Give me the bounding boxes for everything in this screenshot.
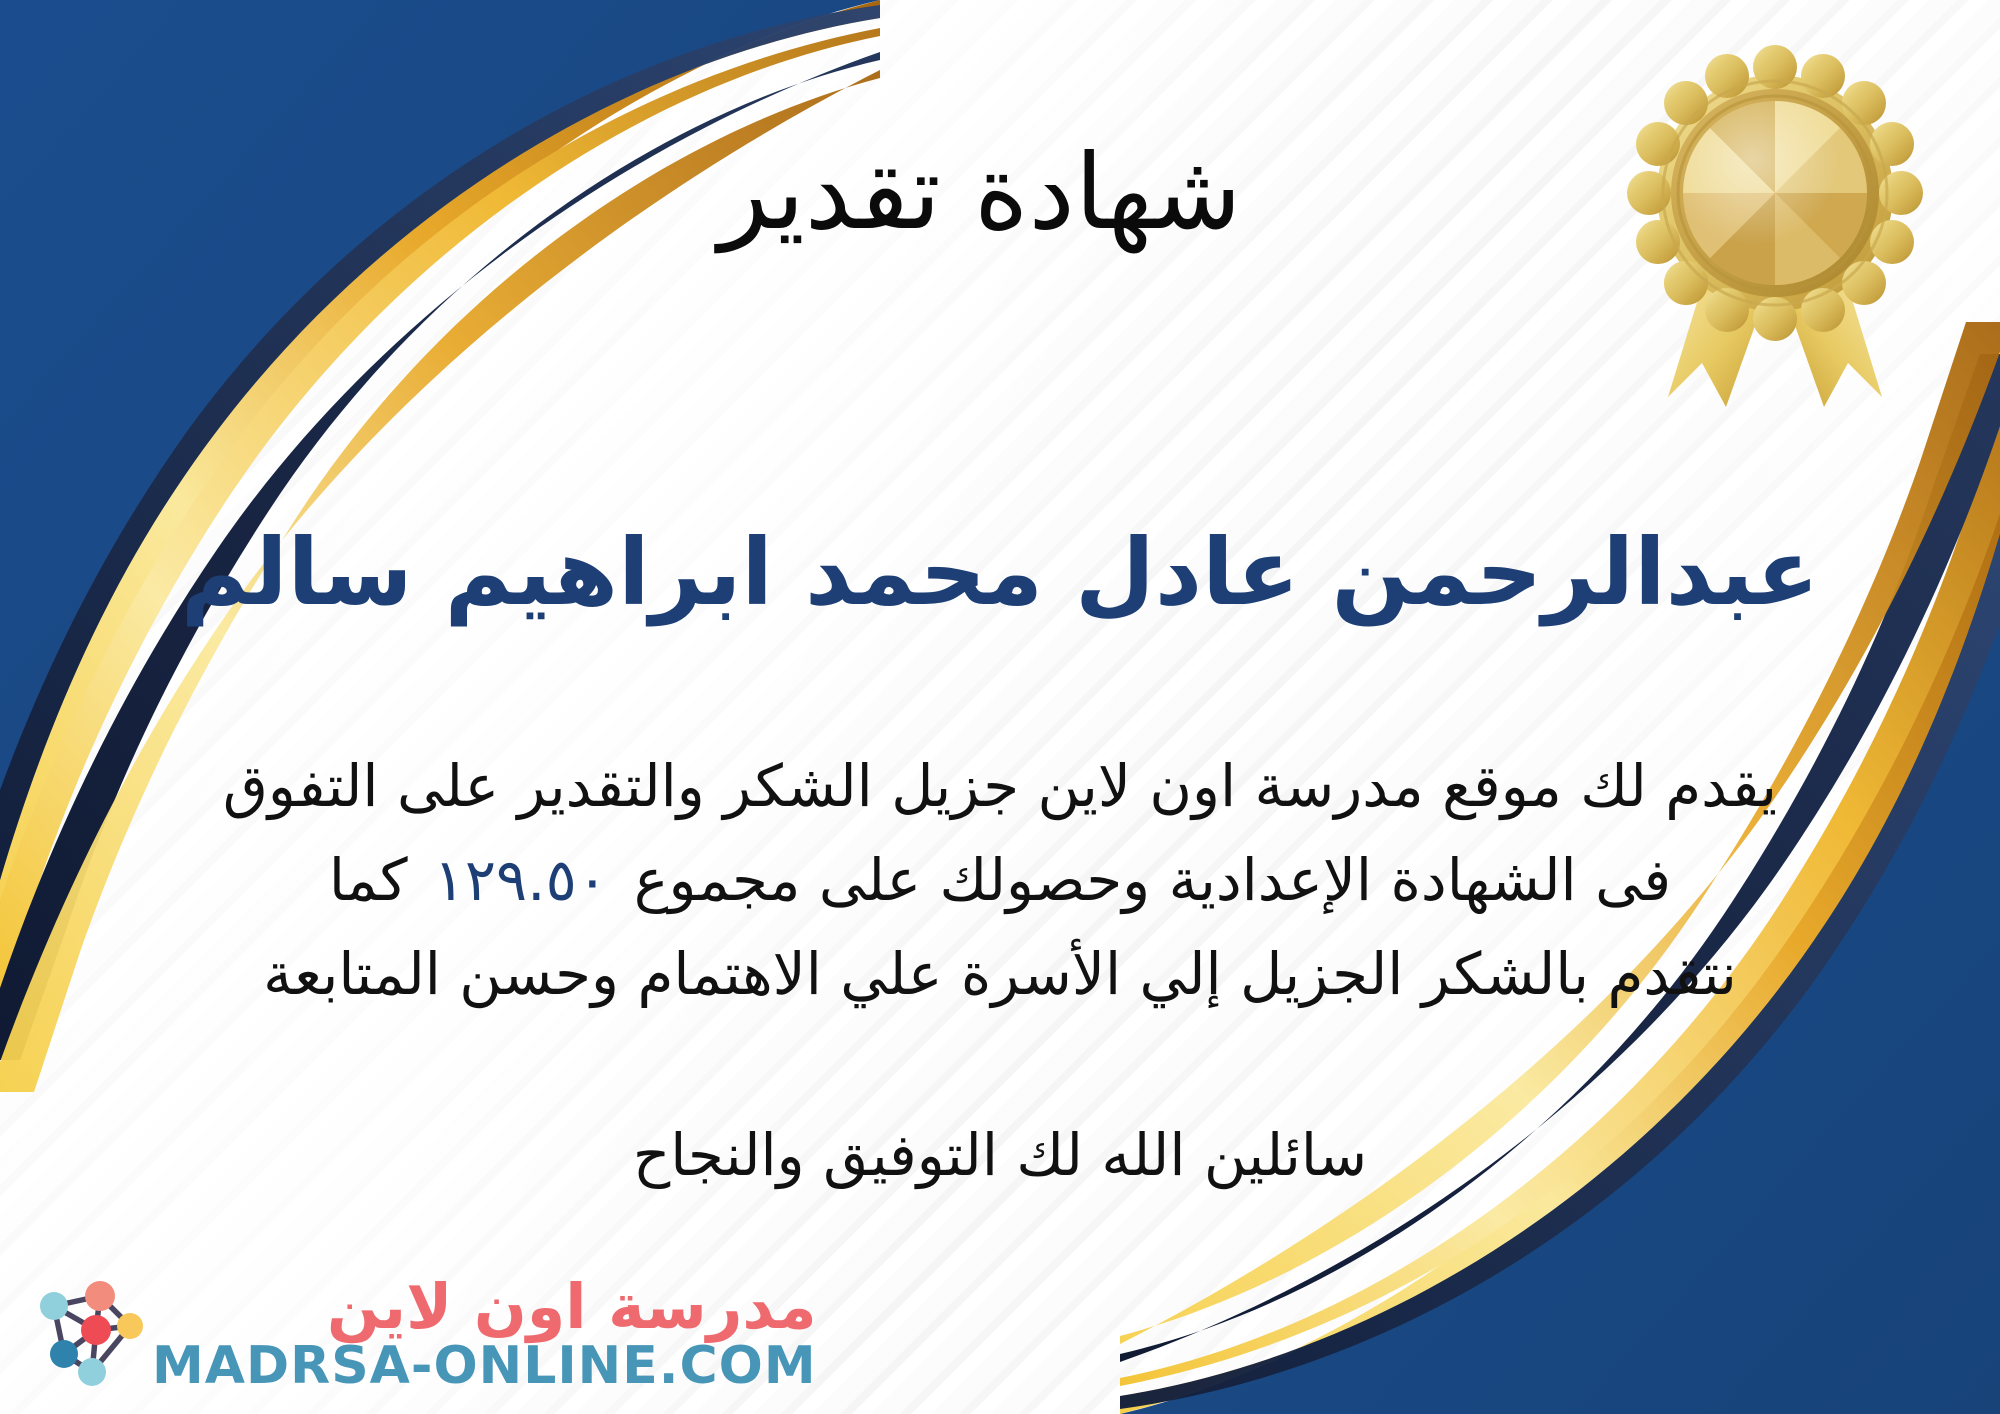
body-line-2-prefix: فى الشهادة الإعدادية وحصولك على مجموع bbox=[634, 846, 1671, 914]
closing-wish: سائلين الله لك التوفيق والنجاح bbox=[0, 1118, 2000, 1193]
student-name: عبدالرحمن عادل محمد ابراهيم سالم bbox=[0, 520, 2000, 626]
certificate-canvas: شهادة تقدير عبدالرحمن عادل محمد ابراهيم … bbox=[0, 0, 2000, 1414]
brand-logo[interactable]: مدرسة اون لاين MADRSA-ONLINE.COM bbox=[30, 1276, 817, 1392]
body-line-1: يقدم لك موقع مدرسة اون لاين جزيل الشكر و… bbox=[40, 740, 1960, 834]
brand-name-arabic: مدرسة اون لاين bbox=[327, 1276, 817, 1338]
network-nodes-icon bbox=[30, 1278, 146, 1390]
brand-text-block: مدرسة اون لاين MADRSA-ONLINE.COM bbox=[152, 1276, 817, 1392]
gold-award-medal-icon bbox=[1610, 45, 1940, 415]
body-line-2: فى الشهادة الإعدادية وحصولك على مجموع١٢٩… bbox=[40, 834, 1960, 928]
certificate-body: يقدم لك موقع مدرسة اون لاين جزيل الشكر و… bbox=[40, 740, 1960, 1022]
body-line-2-suffix: كما bbox=[329, 846, 408, 914]
brand-website: MADRSA-ONLINE.COM bbox=[152, 1340, 817, 1392]
total-score-value: ١٢٩.٥٠ bbox=[408, 846, 634, 914]
body-line-3: نتقدم بالشكر الجزيل إلي الأسرة علي الاهت… bbox=[40, 928, 1960, 1022]
